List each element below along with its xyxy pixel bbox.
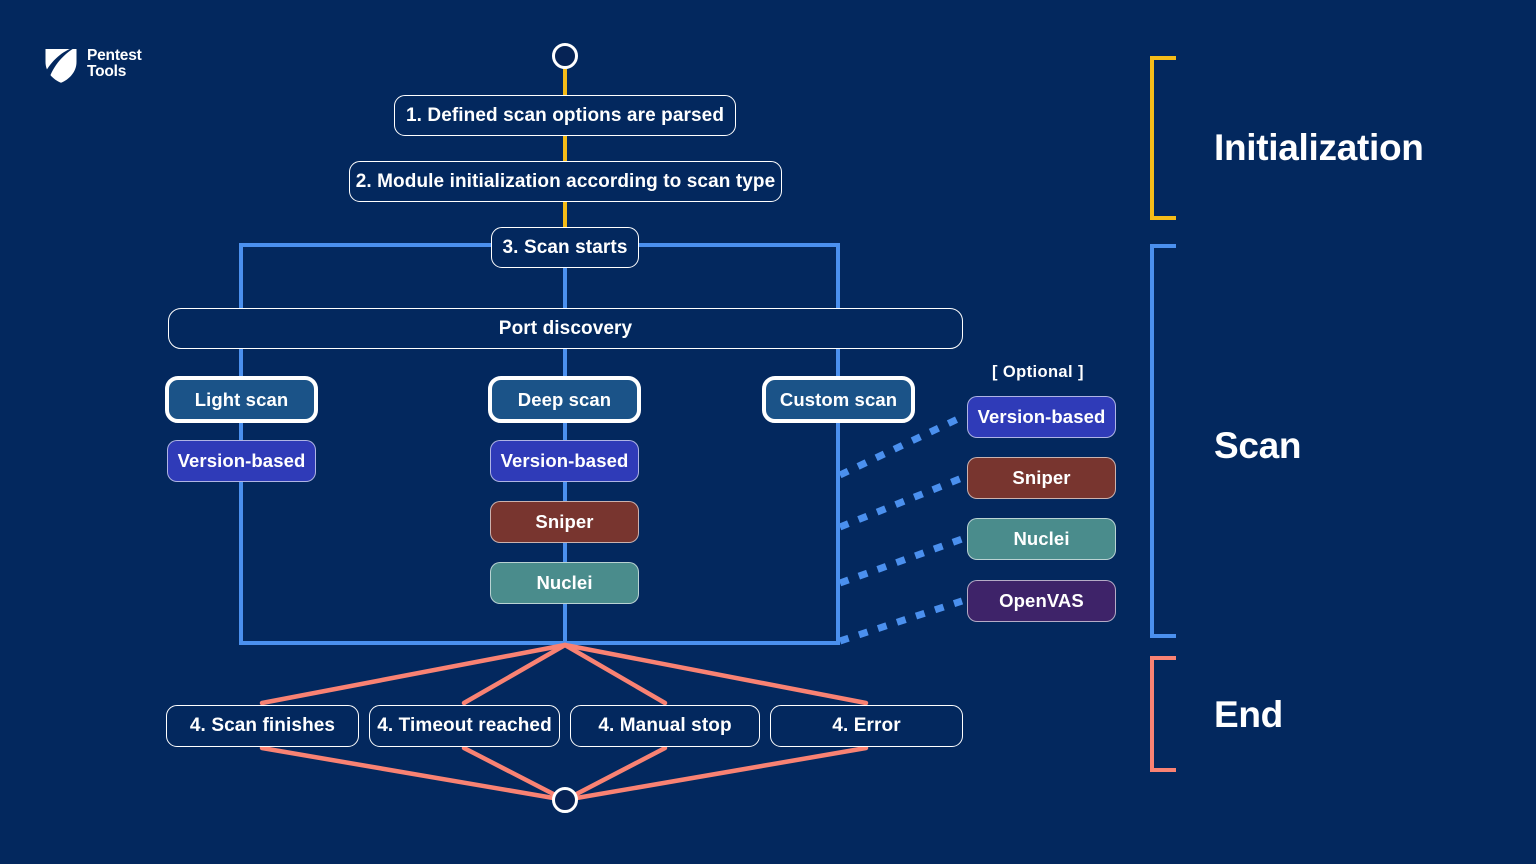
node-deep-sniper[interactable]: Sniper [490,501,639,543]
optional-dashed-links [840,417,962,641]
node-step-2[interactable]: 2. Module initialization according to sc… [349,161,782,202]
node-timeout-reached[interactable]: 4. Timeout reached [369,705,560,747]
shield-icon [44,44,78,84]
node-optional-nuclei[interactable]: Nuclei [967,518,1116,560]
node-optional-sniper[interactable]: Sniper [967,457,1116,499]
node-step-1[interactable]: 1. Defined scan options are parsed [394,95,736,136]
bracket-scan [1152,246,1176,636]
node-light-scan[interactable]: Light scan [165,376,318,423]
node-optional-nuclei-label: Nuclei [1013,528,1069,550]
node-light-version-based-label: Version-based [178,450,306,472]
node-step-2-label: 2. Module initialization according to sc… [356,171,776,193]
node-manual-stop[interactable]: 4. Manual stop [570,705,760,747]
node-deep-scan[interactable]: Deep scan [488,376,641,423]
node-deep-nuclei-label: Nuclei [536,572,592,594]
node-deep-nuclei[interactable]: Nuclei [490,562,639,604]
phase-label-scan: Scan [1214,425,1301,467]
node-optional-version-based[interactable]: Version-based [967,396,1116,438]
node-step-3[interactable]: 3. Scan starts [491,227,639,268]
node-scan-finishes[interactable]: 4. Scan finishes [166,705,359,747]
brand-name: Pentest Tools [87,48,142,81]
node-error-label: 4. Error [832,715,900,737]
node-deep-version-based-label: Version-based [501,450,629,472]
node-optional-sniper-label: Sniper [1012,467,1070,489]
node-light-scan-label: Light scan [195,389,289,411]
end-endpoint-circle [552,787,578,813]
node-manual-stop-label: 4. Manual stop [598,715,731,737]
node-optional-version-based-label: Version-based [978,406,1106,428]
node-scan-finishes-label: 4. Scan finishes [190,715,335,737]
brand-logo: Pentest Tools [44,44,142,84]
flowchart-canvas: Pentest Tools 1. Defined scan options ar… [0,0,1536,864]
brand-name-line1: Pentest [87,47,142,64]
node-optional-openvas-label: OpenVAS [999,590,1084,612]
node-light-version-based[interactable]: Version-based [167,440,316,482]
node-deep-version-based[interactable]: Version-based [490,440,639,482]
optional-section-label: [ Optional ] [992,363,1084,382]
node-deep-sniper-label: Sniper [535,511,593,533]
bracket-initialization [1152,58,1176,218]
bracket-end [1152,658,1176,770]
node-port-discovery-label: Port discovery [499,318,632,340]
brand-name-line2: Tools [87,63,126,80]
node-custom-scan[interactable]: Custom scan [762,376,915,423]
node-timeout-reached-label: 4. Timeout reached [377,715,552,737]
node-optional-openvas[interactable]: OpenVAS [967,580,1116,622]
phase-label-initialization: Initialization [1214,127,1424,169]
node-error[interactable]: 4. Error [770,705,963,747]
node-port-discovery[interactable]: Port discovery [168,308,963,349]
node-step-3-label: 3. Scan starts [503,237,628,259]
start-endpoint-circle [552,43,578,69]
phase-label-end: End [1214,694,1283,736]
node-custom-scan-label: Custom scan [780,389,897,411]
node-deep-scan-label: Deep scan [518,389,611,411]
node-step-1-label: 1. Defined scan options are parsed [406,105,724,127]
